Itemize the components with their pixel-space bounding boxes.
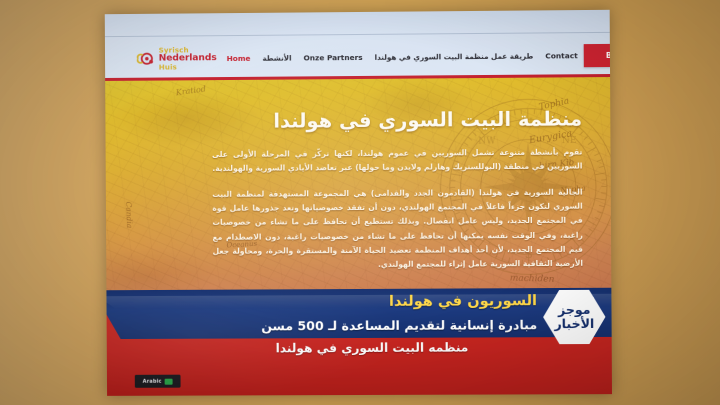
site-header: Syrisch Nederlands Huis Home الأنشطة Onz… xyxy=(105,10,610,81)
hero-section: TophiaEurygicahirn KibNyphamachidenMemph… xyxy=(105,77,612,396)
nav-item-how-we-work[interactable]: طريقة عمل منظمة البيت السوري في هولندا xyxy=(369,47,540,65)
hero-text-block: منظمة البيت السوري في هولندا تقوم بأنشطة… xyxy=(212,105,583,284)
channel-logo-bug: Arabic xyxy=(135,375,181,388)
nav-item-contact[interactable]: Contact xyxy=(539,47,584,64)
logo-line-huis: Huis xyxy=(159,63,217,71)
site-logo[interactable]: Syrisch Nederlands Huis xyxy=(135,46,217,71)
news-headline: السوريون في هولندا xyxy=(389,293,537,310)
nav-item-onze-partners[interactable]: Onze Partners xyxy=(298,48,369,66)
swirl-logo-icon xyxy=(135,49,155,69)
channel-bug-label: Arabic xyxy=(143,378,162,384)
nav-item-activities[interactable]: الأنشطة xyxy=(256,49,297,66)
nav-item-blog-button[interactable]: Blog xyxy=(584,43,612,67)
page-title: منظمة البيت السوري في هولندا xyxy=(212,105,582,136)
news-badge-line-2: الأخبار xyxy=(554,317,594,331)
monitor-screen: Syrisch Nederlands Huis Home الأنشطة Onz… xyxy=(105,10,612,396)
news-badge-line-1: موجز xyxy=(558,303,591,317)
news-subheadline: مبادرة إنسانية لتقديم المساعدة لـ 500 مس… xyxy=(261,317,537,333)
hero-paragraph-1: تقوم بأنشطة متنوعة تشمل السوريين في عموم… xyxy=(212,146,582,177)
hero-paragraph-2: الجالية السورية في هولندا (القادمون الجد… xyxy=(212,186,583,272)
main-navigation[interactable]: Syrisch Nederlands Huis Home الأنشطة Onz… xyxy=(105,36,610,78)
photographed-screen-scene: Syrisch Nederlands Huis Home الأنشطة Onz… xyxy=(0,0,720,405)
news-ticker-overlay: موجز الأخبار السوريون في هولندا مبادرة إ… xyxy=(106,288,612,396)
news-crawl-text: منظمه البيت السوري في هولندا xyxy=(207,340,537,356)
green-dot-icon xyxy=(165,378,173,384)
nav-item-home[interactable]: Home xyxy=(221,49,257,66)
logo-wordmark: Syrisch Nederlands Huis xyxy=(159,46,217,71)
